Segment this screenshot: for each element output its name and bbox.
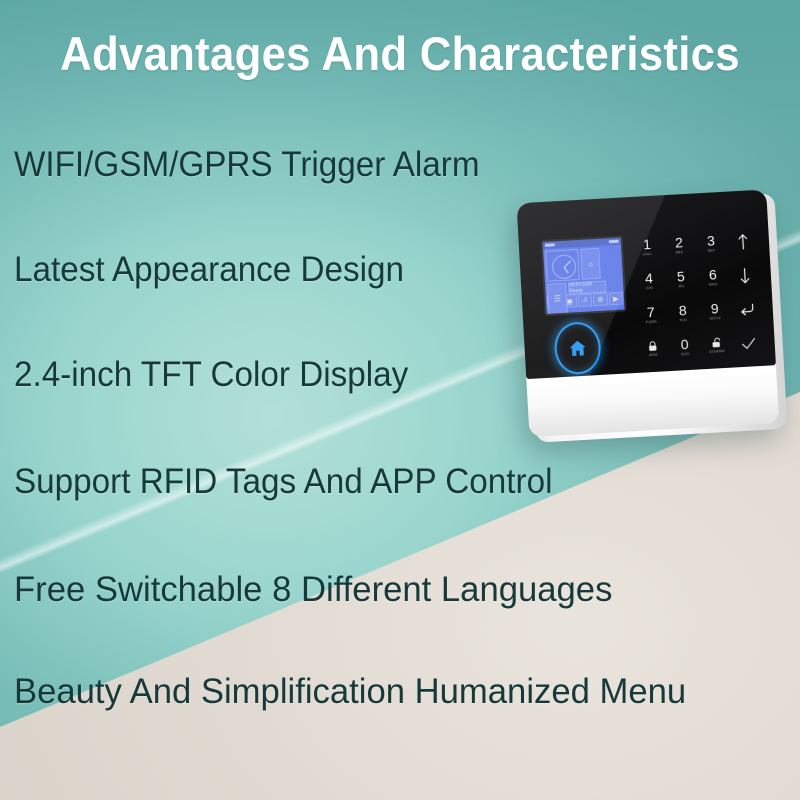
keypad[interactable]: 1 CALL 2 ABC 3 DEF: [630, 224, 765, 367]
home-icon: [567, 338, 588, 359]
key-3[interactable]: 3 DEF: [694, 226, 728, 262]
clock-radar-icon: [551, 254, 576, 279]
lcd-status-tile: Wi-Fi GSM Ready: [568, 281, 607, 295]
key-8[interactable]: 8 TUV: [666, 295, 700, 331]
device-front-glass: ☼ ☰ Wi-Fi GSM Ready ☎ ▣ ♫ ⚙ ▶: [517, 189, 776, 379]
check-icon: [740, 336, 757, 351]
arrow-down-icon: [738, 267, 751, 284]
lcd-key-settings: ⚙: [593, 292, 608, 306]
lcd-wifi-tile: ☼: [580, 248, 601, 280]
key-6[interactable]: 6 MNO: [696, 260, 730, 296]
key-confirm[interactable]: [732, 326, 766, 362]
feature-item-0: WIFI/GSM/GPRS Trigger Alarm: [14, 145, 480, 185]
key-4[interactable]: 4 GHI: [632, 263, 666, 299]
key-back[interactable]: [730, 292, 764, 328]
feature-item-5: Beauty And Simplification Humanized Menu: [14, 672, 686, 712]
lock-closed-icon: [647, 340, 658, 352]
key-arm[interactable]: ARM: [636, 331, 670, 367]
key-down[interactable]: [728, 258, 762, 294]
device-body: ☼ ☰ Wi-Fi GSM Ready ☎ ▣ ♫ ⚙ ▶: [517, 189, 780, 437]
back-arrow-icon: [738, 302, 755, 317]
key-1[interactable]: 1 CALL: [630, 229, 664, 265]
key-7[interactable]: 7 PQRS: [634, 297, 668, 333]
key-up[interactable]: [726, 224, 760, 260]
lcd-tile-area: ☼ ☰ Wi-Fi GSM Ready: [543, 245, 623, 295]
lcd-signal-tile: ☰: [547, 283, 568, 315]
key-disarm[interactable]: DISARM: [700, 328, 734, 364]
feature-item-3: Support RFID Tags And APP Control: [14, 462, 552, 502]
device-lcd-screen: ☼ ☰ Wi-Fi GSM Ready ☎ ▣ ♫ ⚙ ▶: [541, 236, 627, 316]
arrow-up-icon: [737, 233, 750, 250]
key-2[interactable]: 2 ABC: [662, 228, 696, 264]
key-5[interactable]: 5 JKL: [664, 261, 698, 297]
lcd-key-play: ▶: [608, 292, 623, 306]
feature-item-4: Free Switchable 8 Different Languages: [14, 570, 612, 610]
feature-item-1: Latest Appearance Design: [14, 250, 404, 290]
promo-banner: Advantages And Characteristics WIFI/GSM/…: [0, 0, 800, 800]
lcd-key-sound: ♫: [577, 293, 592, 307]
home-button[interactable]: [553, 321, 602, 375]
lcd-clock-tile: [545, 249, 580, 282]
key-9[interactable]: 9 WXYZ: [698, 294, 732, 330]
feature-item-2: 2.4-inch TFT Color Display: [14, 355, 408, 395]
alarm-panel-device: ☼ ☰ Wi-Fi GSM Ready ☎ ▣ ♫ ⚙ ▶: [517, 189, 788, 443]
lock-open-icon: [711, 337, 723, 349]
lcd-signal-icon: [545, 243, 555, 247]
lcd-battery-icon: [609, 240, 619, 244]
key-0[interactable]: 0 SOS: [668, 329, 702, 365]
page-title: Advantages And Characteristics: [28, 26, 772, 81]
